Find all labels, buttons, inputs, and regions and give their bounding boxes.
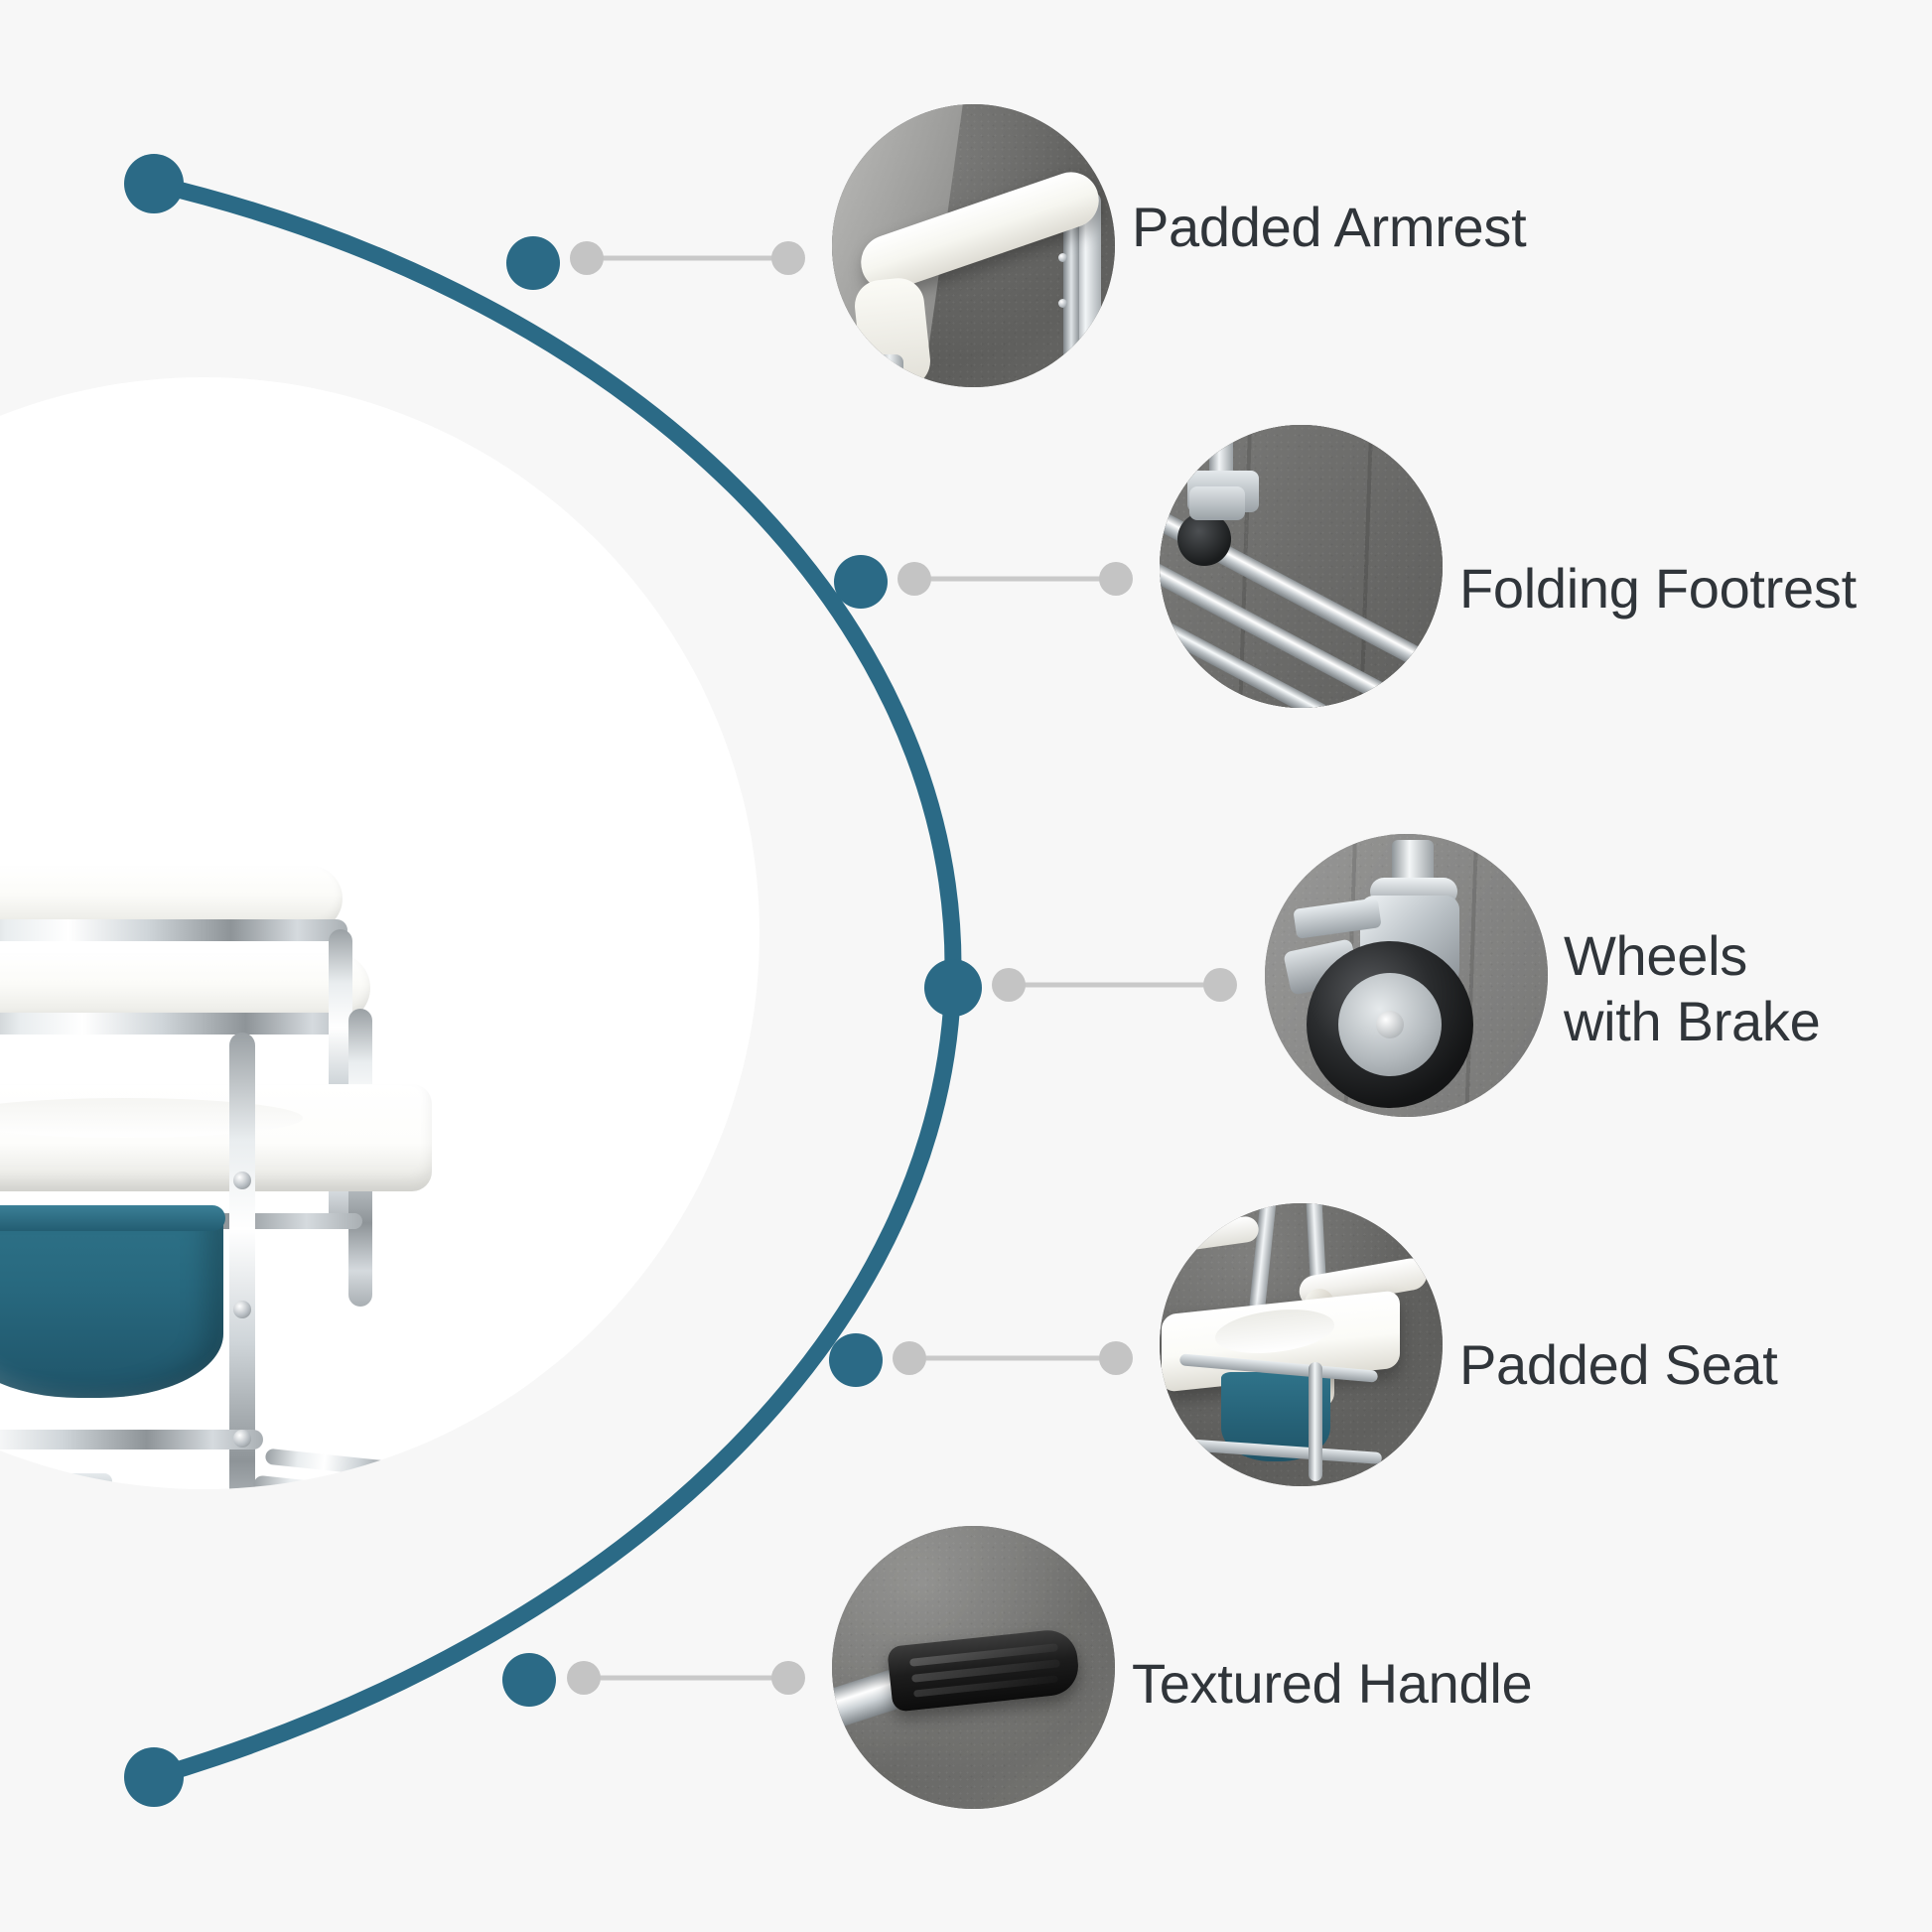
connector-dot-inner-handle (567, 1661, 601, 1695)
arc-node-end (124, 1747, 184, 1807)
arc-node-start (124, 154, 184, 213)
feature-thumbnail-padded-seat[interactable] (1160, 1203, 1443, 1486)
connector-dot-inner-footrest (897, 562, 931, 596)
feature-label-wheels-with-brake: Wheels with Brake (1564, 923, 1820, 1054)
frame-rivet (233, 1430, 251, 1448)
arc-node-armrest (506, 236, 560, 290)
footrest-bar-inner (265, 1449, 445, 1483)
feature-thumbnail-textured-handle[interactable] (832, 1526, 1115, 1809)
footrest-edge (432, 1455, 450, 1489)
connector-dot-outer-wheels (1203, 968, 1237, 1002)
arc-node-wheels (924, 959, 982, 1017)
armrest-rail-upper (0, 919, 347, 941)
armrest-rail-lower (0, 1013, 362, 1035)
connector-dot-outer-handle (771, 1661, 805, 1695)
connector-dot-outer-seat (1099, 1341, 1133, 1375)
frame-rivet (233, 1172, 251, 1189)
frame-cross-rail-upper (0, 1430, 263, 1449)
feature-thumbnail-wheels-with-brake[interactable] (1265, 834, 1548, 1117)
frame-rivet (233, 1301, 251, 1318)
feature-label-textured-handle: Textured Handle (1132, 1651, 1532, 1717)
feature-thumbnail-folding-footrest[interactable] (1160, 425, 1443, 708)
arc-node-footrest (834, 555, 888, 609)
arc-node-handle (502, 1653, 556, 1707)
commode-bucket (0, 1209, 223, 1398)
feature-label-padded-armrest: Padded Armrest (1132, 195, 1526, 260)
arc-node-seat (829, 1333, 883, 1387)
connector-dot-inner-seat (893, 1341, 926, 1375)
caster-front-right (17, 1473, 146, 1489)
feature-label-folding-footrest: Folding Footrest (1459, 556, 1857, 621)
hero-product-image (0, 377, 759, 1489)
bucket-rim (0, 1205, 225, 1231)
connector-dot-inner-wheels (992, 968, 1026, 1002)
connector-dot-outer-footrest (1099, 562, 1133, 596)
feature-label-padded-seat: Padded Seat (1459, 1332, 1778, 1398)
connector-dot-outer-armrest (771, 241, 805, 275)
feature-thumbnail-padded-armrest[interactable] (832, 104, 1115, 387)
infographic-canvas: Padded Armrest Folding Footrest Wheels w… (0, 0, 1932, 1932)
frame-front-upright (229, 1033, 255, 1489)
connector-dot-inner-armrest (570, 241, 604, 275)
hero-product-circle (0, 377, 759, 1489)
